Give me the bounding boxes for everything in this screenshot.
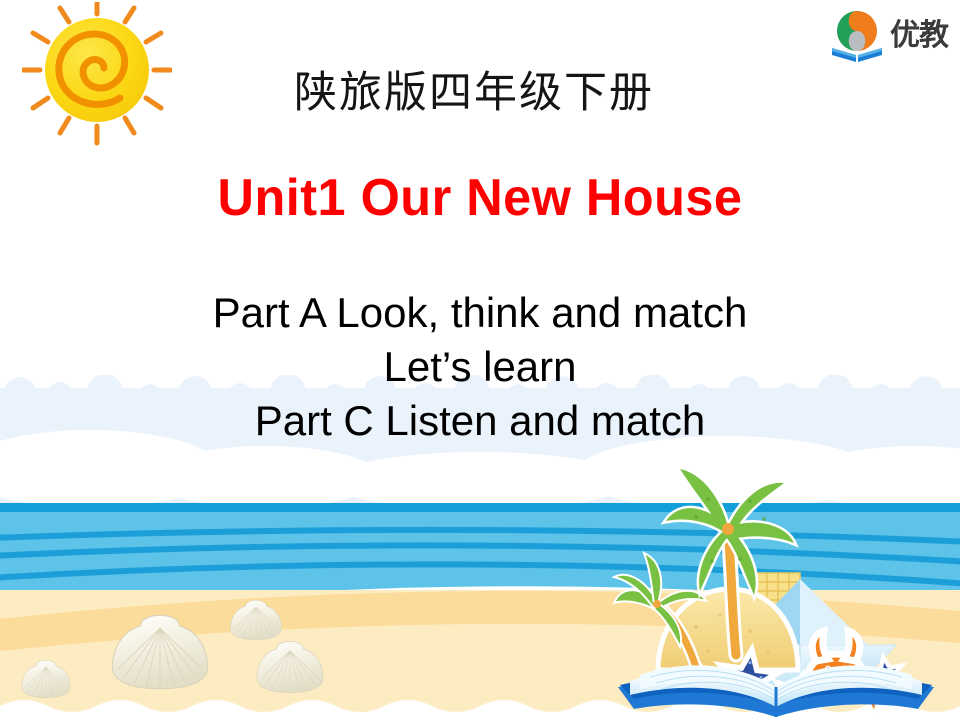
brand-logo-text: 优教 bbox=[890, 21, 948, 51]
slide-canvas: 优教 陕旅版四年级下册 Unit1 Our New House Part A L… bbox=[0, 0, 960, 720]
page-title: Unit1 Our New House bbox=[14, 168, 945, 228]
shell-medium-lower-right bbox=[257, 642, 323, 693]
content-line-1: Part A Look, think and match bbox=[0, 286, 960, 340]
content-lines: Part A Look, think and match Let’s learn… bbox=[0, 286, 960, 447]
brand-logo: 优教 bbox=[828, 8, 948, 64]
content-line-3: Part C Listen and match bbox=[0, 394, 960, 448]
content-line-2: Let’s learn bbox=[0, 340, 960, 394]
subject-line: 陕旅版四年级下册 bbox=[0, 58, 954, 120]
seashell-group bbox=[0, 575, 400, 720]
shell-large-center bbox=[112, 615, 207, 688]
shell-medium-right bbox=[230, 600, 281, 639]
island-book-illustration bbox=[600, 455, 960, 720]
shell-small-left bbox=[22, 660, 70, 697]
youjiao-mark-icon bbox=[828, 8, 886, 64]
